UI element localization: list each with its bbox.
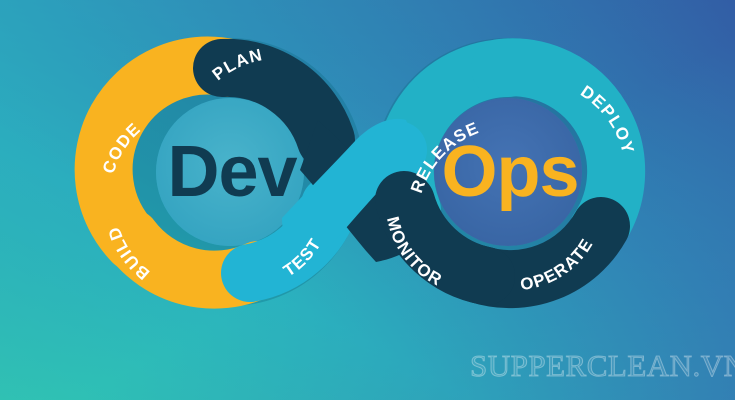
center-word-dev: Dev [167,132,297,212]
devops-diagram-image: PLAN CODE BUILD TEST RELEASE DEPLOY OPER… [0,0,735,400]
center-word-ops: Ops [441,132,578,212]
infinity-loop: PLAN CODE BUILD TEST RELEASE DEPLOY OPER… [0,0,735,400]
